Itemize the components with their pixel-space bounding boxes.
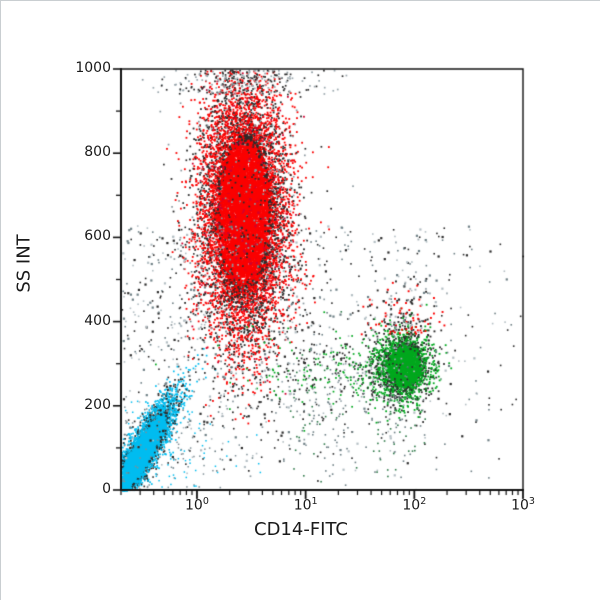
x-tick-label: 103 <box>501 496 545 514</box>
y-tick-label: 400 <box>59 313 111 329</box>
y-axis-label: SS INT <box>14 214 35 314</box>
y-tick-label: 1000 <box>59 60 111 76</box>
y-tick-label: 800 <box>59 144 111 160</box>
x-axis-label: CD14-FITC <box>1 519 600 540</box>
y-tick-label: 0 <box>59 481 111 497</box>
y-tick-label: 600 <box>59 228 111 244</box>
x-tick-label: 100 <box>175 496 219 514</box>
y-tick-label: 200 <box>59 397 111 413</box>
flow-cytometry-figure: [Ungated] CD14-FITC / SS INT SS INT CD14… <box>0 0 600 600</box>
x-tick-label: 102 <box>392 496 436 514</box>
x-tick-label: 101 <box>284 496 328 514</box>
